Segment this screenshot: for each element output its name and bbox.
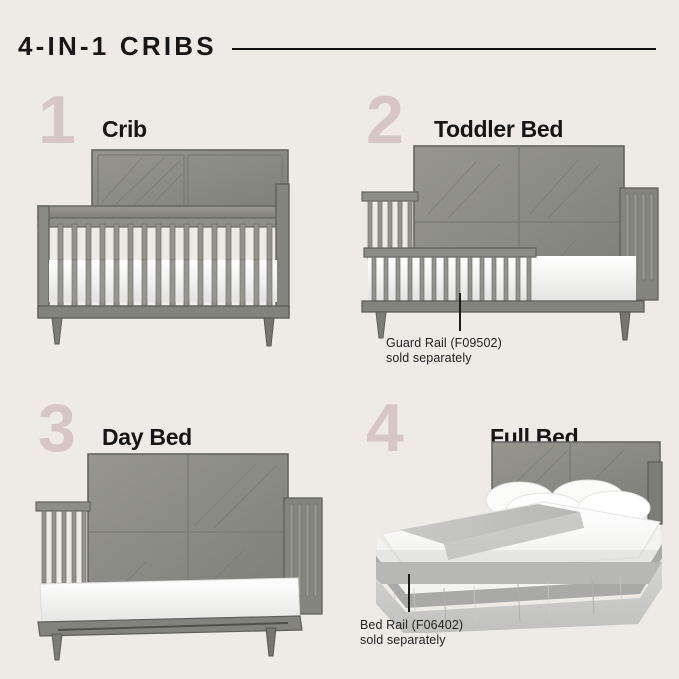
guard-rail-callout-text: Guard Rail (F09502) sold separately bbox=[386, 336, 502, 366]
panel-label-toddler-bed: Toddler Bed bbox=[434, 116, 563, 143]
infographic-root: 4-IN-1 CRIBS 1 Crib bbox=[0, 0, 679, 679]
panel-full-bed: 4 Full Bed bbox=[348, 396, 673, 671]
header: 4-IN-1 CRIBS bbox=[0, 0, 679, 80]
panel-number-1: 1 bbox=[38, 88, 75, 152]
panel-label-day-bed: Day Bed bbox=[102, 424, 192, 451]
page-title: 4-IN-1 CRIBS bbox=[18, 31, 217, 62]
guard-rail-callout-line bbox=[459, 293, 461, 331]
panel-toddler-bed: 2 Toddler Bed bbox=[348, 88, 673, 388]
crib-illustration bbox=[18, 144, 338, 349]
bed-rail-callout-text: Bed Rail (F06402) sold separately bbox=[360, 618, 463, 648]
panel-crib: 1 Crib bbox=[18, 88, 338, 348]
panel-number-2: 2 bbox=[366, 88, 403, 152]
full-bed-illustration bbox=[348, 438, 673, 633]
panel-day-bed: 3 Day Bed bbox=[18, 396, 338, 666]
panel-label-crib: Crib bbox=[102, 116, 147, 143]
panel-number-3: 3 bbox=[38, 396, 75, 460]
bed-rail-callout-line bbox=[408, 574, 410, 612]
header-divider bbox=[232, 48, 656, 50]
day-bed-illustration bbox=[18, 452, 338, 662]
toddler-bed-illustration bbox=[348, 144, 673, 349]
